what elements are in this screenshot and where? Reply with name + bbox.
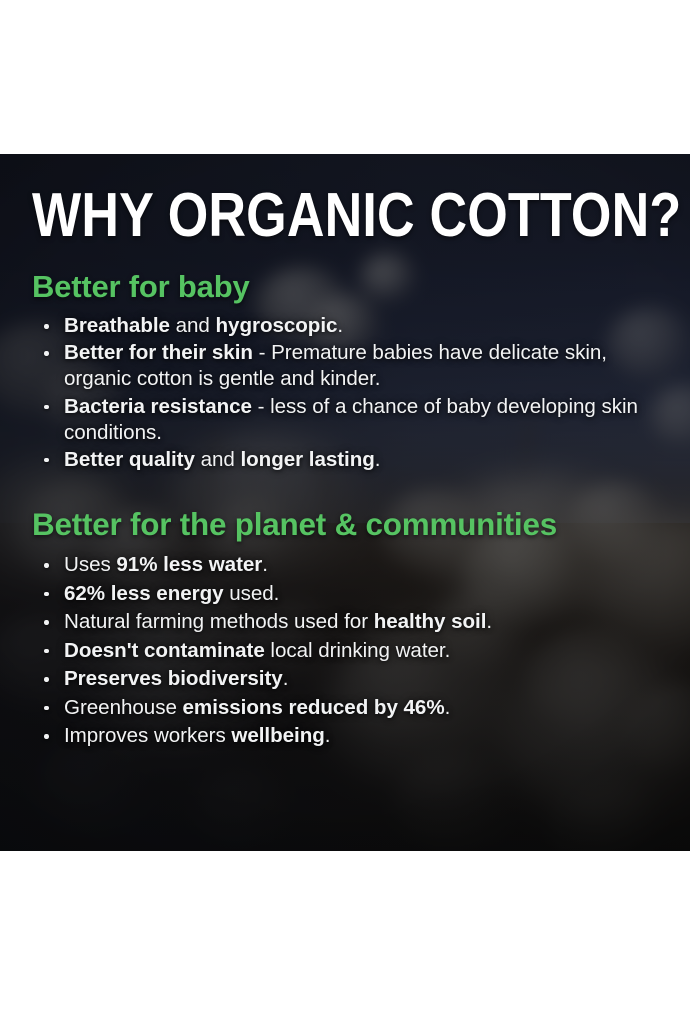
benefits-list-baby: Breathable and hygroscopic.Better for th… — [32, 304, 660, 472]
list-item-emphasis: Bacteria resistance — [64, 395, 252, 418]
list-item-emphasis: Better quality — [64, 448, 195, 471]
list-item-text: used. — [224, 582, 280, 605]
list-item-emphasis: hygroscopic — [216, 314, 338, 337]
list-item: Natural farming methods used for healthy… — [40, 609, 660, 635]
list-item-text: and — [170, 314, 216, 337]
section-title-better-for-planet: Better for the planet & communities — [32, 508, 660, 543]
list-item-text: and — [195, 448, 241, 471]
list-item-text: . — [486, 610, 492, 633]
list-item: Greenhouse emissions reduced by 46%. — [40, 695, 660, 721]
list-item-text: Uses — [64, 553, 116, 576]
list-item-text: . — [445, 696, 451, 719]
list-item-emphasis: 62% less energy — [64, 582, 224, 605]
list-item-text: local drinking water. — [265, 639, 450, 662]
benefits-list-planet: Uses 91% less water.62% less energy used… — [32, 542, 660, 749]
list-item-text: Greenhouse — [64, 696, 183, 719]
list-item-emphasis: 91% less water — [116, 553, 262, 576]
infographic-card: WHY ORGANIC COTTON? Better for baby Brea… — [0, 154, 690, 851]
list-item: Improves workers wellbeing. — [40, 723, 660, 749]
list-item-text: Natural farming methods used for — [64, 610, 374, 633]
list-item-emphasis: Preserves biodiversity — [64, 667, 283, 690]
list-item-text: . — [375, 448, 381, 471]
list-item: Better quality and longer lasting. — [40, 447, 660, 473]
list-item: Bacteria resistance - less of a chance o… — [40, 394, 660, 446]
list-item-emphasis: Better for their skin — [64, 341, 253, 364]
list-item-text: . — [262, 553, 268, 576]
list-item-emphasis: Doesn't contaminate — [64, 639, 265, 662]
section-title-better-for-baby: Better for baby — [32, 245, 660, 304]
list-item-emphasis: longer lasting — [240, 448, 374, 471]
list-item: Breathable and hygroscopic. — [40, 313, 660, 339]
section-spacer — [32, 474, 660, 508]
list-item: Better for their skin - Premature babies… — [40, 340, 660, 392]
page-title: WHY ORGANIC COTTON? — [32, 154, 560, 245]
list-item: Doesn't contaminate local drinking water… — [40, 638, 660, 664]
list-item-text: . — [337, 314, 343, 337]
list-item-text: Improves workers — [64, 724, 231, 747]
list-item-emphasis: Breathable — [64, 314, 170, 337]
list-item: Preserves biodiversity. — [40, 666, 660, 692]
infographic-content: WHY ORGANIC COTTON? Better for baby Brea… — [0, 154, 690, 851]
list-item: 62% less energy used. — [40, 581, 660, 607]
list-item-text: . — [283, 667, 289, 690]
list-item-emphasis: wellbeing — [231, 724, 324, 747]
list-item-emphasis: emissions reduced by 46% — [183, 696, 445, 719]
list-item-emphasis: healthy soil — [374, 610, 487, 633]
page-root: WHY ORGANIC COTTON? Better for baby Brea… — [0, 0, 690, 1024]
list-item: Uses 91% less water. — [40, 552, 660, 578]
list-item-text: . — [325, 724, 331, 747]
